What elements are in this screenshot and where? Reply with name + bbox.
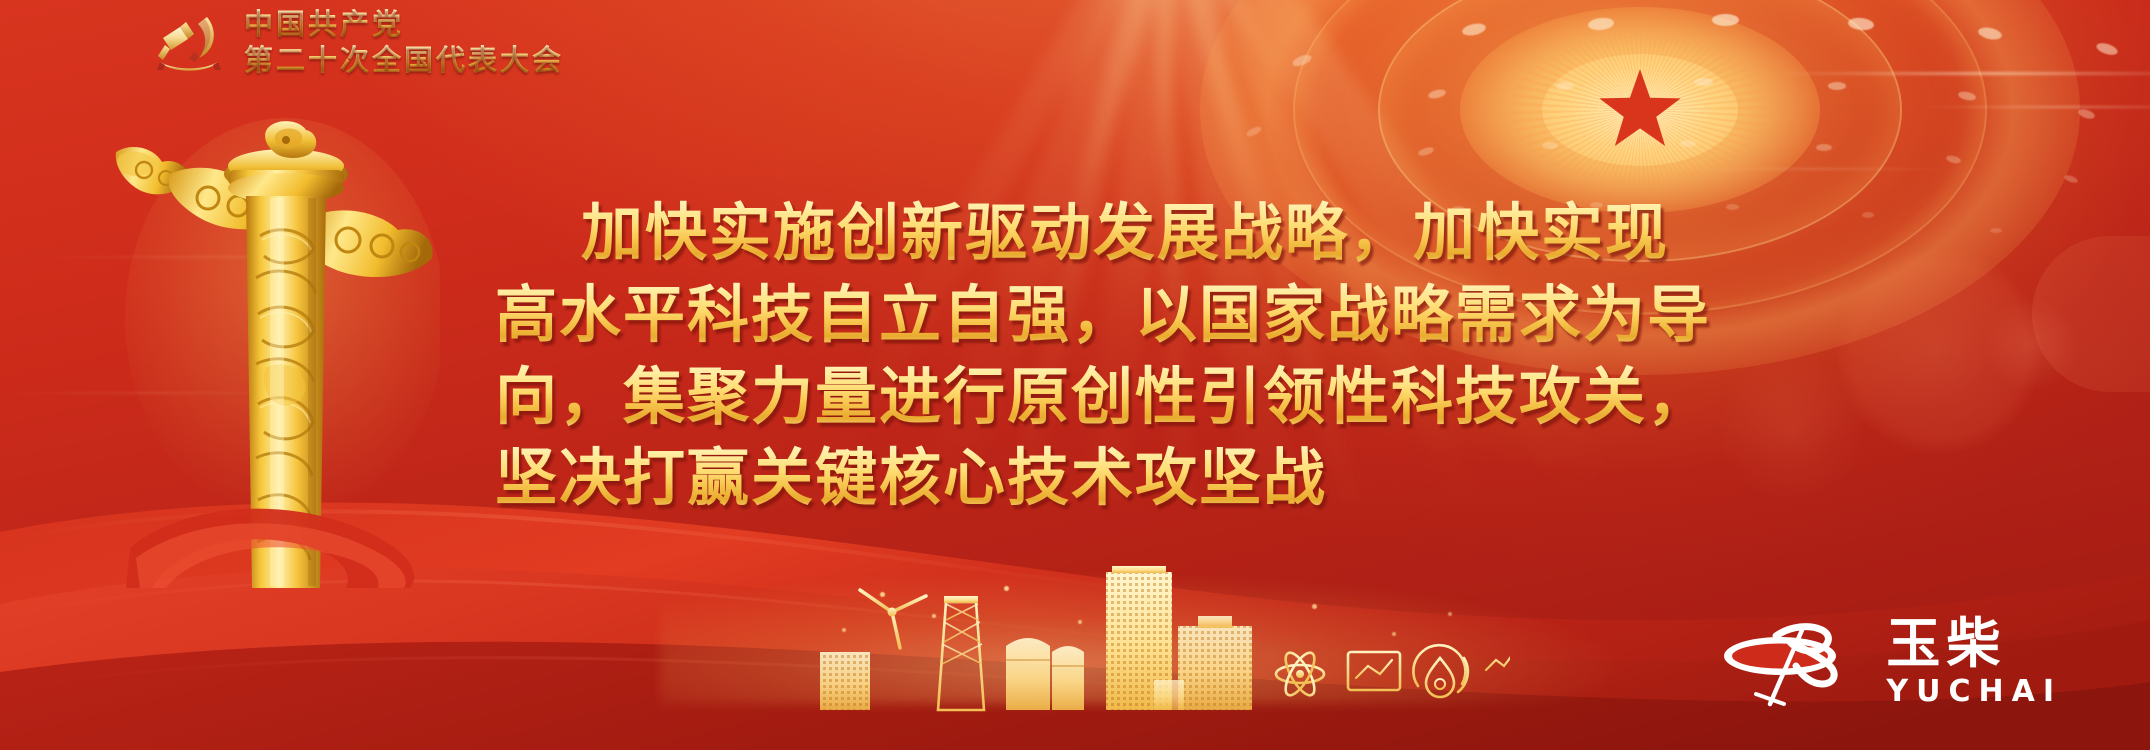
growth-bar-chart-icon [1486, 644, 1510, 692]
congress-logo-text: 中国共产党 第二十次全国代表大会 [244, 8, 564, 77]
yuchai-name-cn: 玉柴 [1886, 617, 2006, 671]
storage-tanks-icon [1006, 638, 1084, 710]
energy-droplet-icon [1413, 645, 1467, 697]
congress-logo-line2: 第二十次全国代表大会 [244, 44, 564, 78]
yuchai-swoosh-icon [1718, 616, 1868, 708]
slogan-line-4: 坚决打赢关键核心技术攻坚战 [495, 437, 1755, 519]
hammer-and-sickle-icon [150, 10, 228, 76]
yuchai-wordmark: 玉柴 YUCHAI [1886, 617, 2062, 707]
congress-logo: 中国共产党 第二十次全国代表大会 [150, 8, 564, 77]
city-skyline-illustration [810, 534, 1510, 714]
yuchai-brand-logo: 玉柴 YUCHAI [1718, 616, 2062, 708]
slogan-line-2: 高水平科技自立自强，以国家战略需求为导 [495, 274, 1755, 356]
rosette-core [1542, 54, 1738, 166]
atom-icon [1276, 649, 1324, 700]
rosette-spokes [1510, 35, 1770, 185]
skyline-glow [660, 574, 1620, 704]
huabiao-column-icon [110, 118, 440, 588]
slogan-line-3: 向，集聚力量进行原创性引领性科技攻关， [495, 356, 1755, 438]
low-rise-building-icon [820, 652, 870, 710]
skyscraper-wide-icon [1178, 616, 1252, 710]
slogan-block: 加快实施创新驱动发展战略，加快实现 高水平科技自立自强，以国家战略需求为导 向，… [495, 192, 1755, 519]
slogan-line-1: 加快实施创新驱动发展战略，加快实现 [495, 192, 1755, 274]
congress-logo-line1: 中国共产党 [244, 8, 564, 42]
party-congress-banner: 中国共产党 第二十次全国代表大会 [0, 0, 2150, 750]
rosette-ring [1460, 7, 1820, 213]
red-star-icon [1597, 67, 1683, 149]
wind-turbine-icon [860, 590, 926, 710]
yuchai-name-en: YUCHAI [1886, 677, 2062, 707]
monitor-chart-icon [1348, 652, 1400, 701]
lattice-tower-icon [938, 596, 984, 710]
skyscraper-tall-icon [1106, 566, 1172, 710]
